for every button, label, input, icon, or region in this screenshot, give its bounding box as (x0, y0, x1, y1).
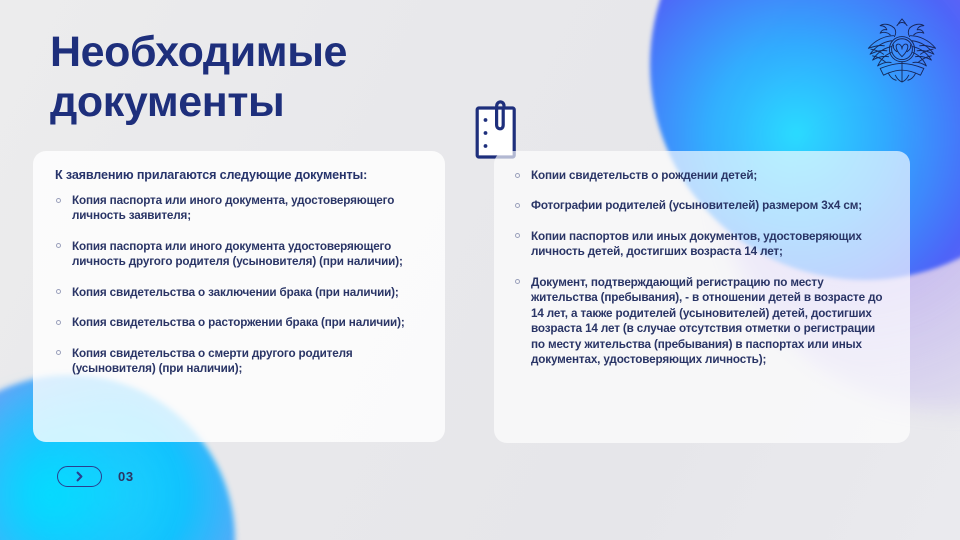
list-item: Копии паспортов или иных документов, удо… (506, 229, 890, 260)
page-number: 03 (118, 469, 134, 484)
left-card-lead: К заявлению прилагаются следующие докуме… (55, 168, 423, 182)
list-item: Копия паспорта или иного документа удост… (49, 239, 423, 270)
list-item: Копии свидетельств о рождении детей; (506, 168, 890, 183)
list-item: Копия паспорта или иного документа, удос… (49, 193, 423, 224)
documents-card-right: Копии свидетельств о рождении детей; Фот… (494, 151, 910, 443)
list-item: Копия свидетельства о расторжении брака … (49, 315, 423, 330)
list-item: Копия свидетельства о смерти другого род… (49, 346, 423, 377)
list-item: Фотографии родителей (усыновителей) разм… (506, 198, 890, 213)
pager: 03 (57, 466, 134, 487)
list-item: Документ, подтверждающий регистрацию по … (506, 275, 890, 368)
page-title: Необходимые документы (50, 28, 480, 128)
next-slide-button[interactable] (57, 466, 102, 487)
left-card-document-list: Копия паспорта или иного документа, удос… (49, 193, 423, 377)
double-headed-eagle-emblem-icon (860, 8, 944, 92)
slide-root: Необходимые документы К заявлению прилаг… (0, 0, 960, 540)
list-item: Копия свидетельства о заключении брака (… (49, 285, 423, 300)
right-card-document-list: Копии свидетельств о рождении детей; Фот… (506, 168, 890, 367)
chevron-right-icon (73, 470, 86, 483)
documents-card-left: К заявлению прилагаются следующие докуме… (33, 151, 445, 442)
